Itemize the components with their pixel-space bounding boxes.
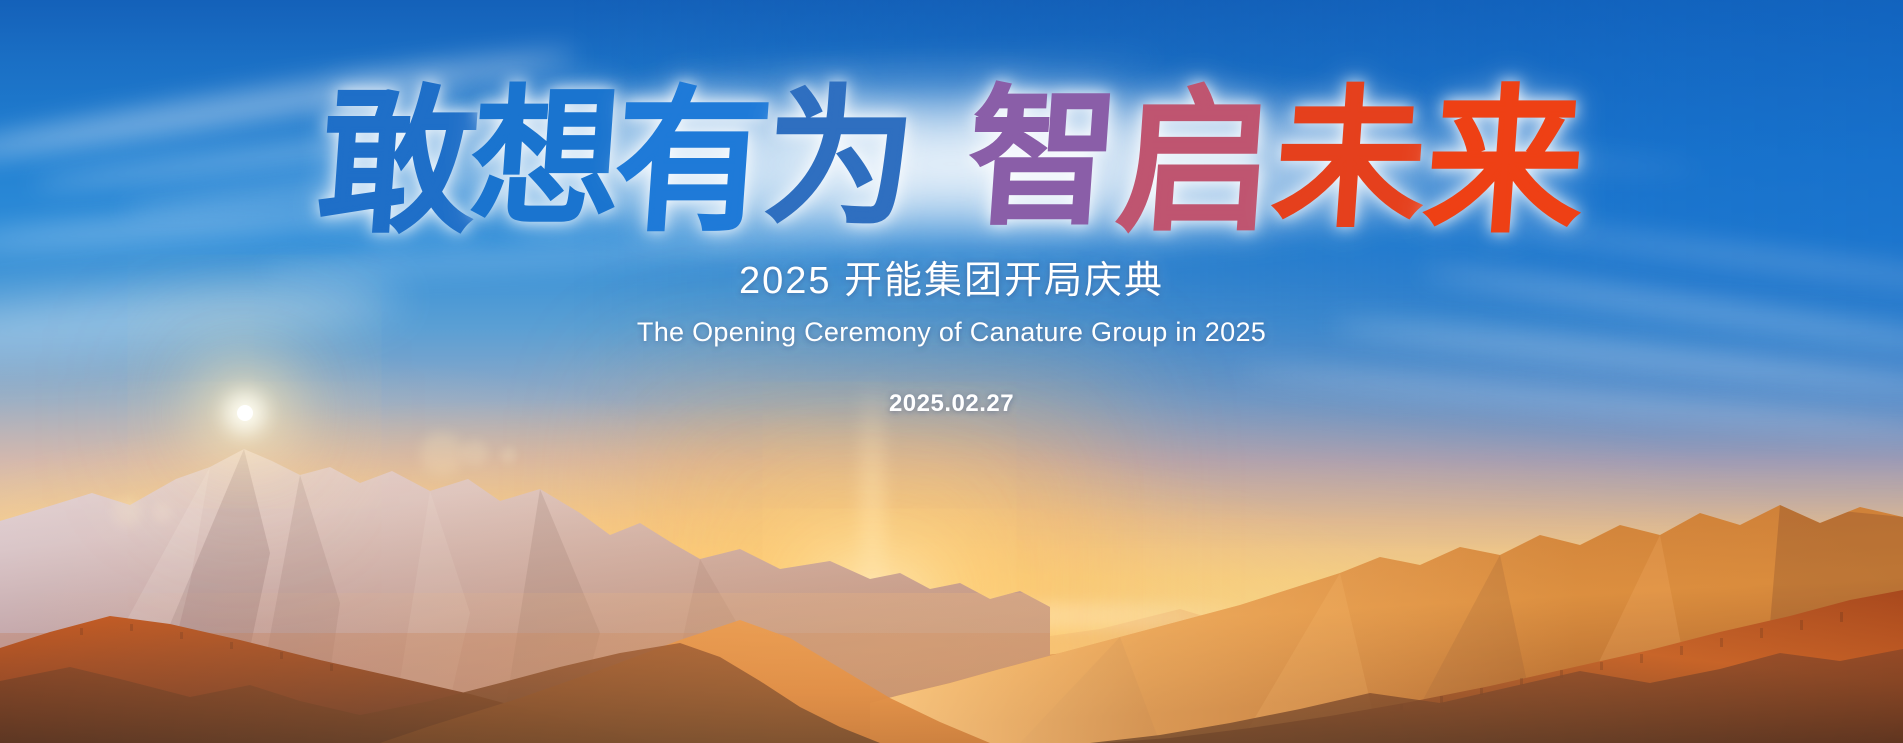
subtitle-chinese: 2025 开能集团开局庆典 bbox=[0, 258, 1903, 306]
subtitle-english: The Opening Ceremony of Canature Group i… bbox=[0, 315, 1903, 350]
event-text-block: 2025 开能集团开局庆典 The Opening Ceremony of Ca… bbox=[0, 258, 1903, 418]
event-date: 2025.02.27 bbox=[0, 390, 1903, 418]
bottom-peak-layer bbox=[0, 623, 1903, 743]
event-banner: 敢 想 有 为 智 启 未 来 2025 开能集团开局庆典 The Openin… bbox=[0, 0, 1903, 743]
